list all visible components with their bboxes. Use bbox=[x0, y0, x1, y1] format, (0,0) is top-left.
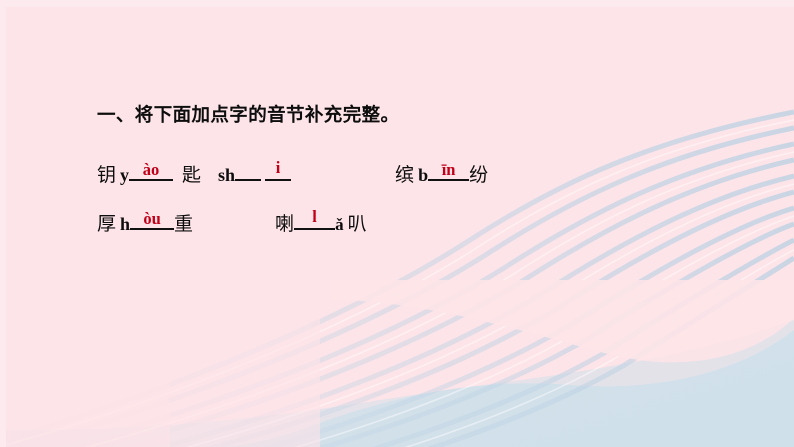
char-fen-after: 纷 bbox=[469, 165, 488, 186]
blank-shi-first[interactable] bbox=[235, 160, 261, 181]
answer-bin: īn bbox=[428, 162, 469, 179]
answer-row-2: 厚hòu重 喇lǎ叭 bbox=[97, 209, 367, 236]
initial-h: h bbox=[120, 214, 130, 234]
char-chi-after: 匙 bbox=[182, 165, 201, 186]
answer-la: l bbox=[294, 209, 335, 226]
blank-yao[interactable]: ào bbox=[129, 160, 173, 181]
page-left-edge bbox=[0, 0, 6, 447]
char-hou-before: 厚 bbox=[97, 214, 116, 235]
blank-la[interactable]: l bbox=[294, 209, 335, 230]
question-title: 一、将下面加点字的音节补充完整。 bbox=[97, 101, 399, 127]
blank-bin[interactable]: īn bbox=[428, 160, 469, 181]
initial-y: y bbox=[120, 165, 129, 185]
answer-row-1: 钥yào匙 shi 缤bīn纷 bbox=[97, 160, 488, 187]
answer-hou: òu bbox=[130, 211, 174, 228]
answer-shi: i bbox=[265, 160, 291, 177]
page-top-edge bbox=[0, 0, 794, 7]
char-la-before: 喇 bbox=[275, 214, 294, 235]
char-zhong-after: 重 bbox=[174, 214, 193, 235]
blank-shi-second[interactable]: i bbox=[265, 160, 291, 181]
initial-b: b bbox=[418, 165, 428, 185]
worksheet-page: 一、将下面加点字的音节补充完整。 钥yào匙 shi 缤bīn纷 厚hòu重 喇… bbox=[0, 0, 794, 447]
char-yao-before: 钥 bbox=[97, 165, 116, 186]
initial-sh: sh bbox=[218, 165, 235, 185]
char-ba-after: 叭 bbox=[348, 214, 367, 235]
blank-hou[interactable]: òu bbox=[130, 209, 174, 230]
char-bin-before: 缤 bbox=[395, 165, 414, 186]
answer-yao: ào bbox=[129, 162, 173, 179]
tone-mark-la: ǎ bbox=[335, 215, 344, 234]
